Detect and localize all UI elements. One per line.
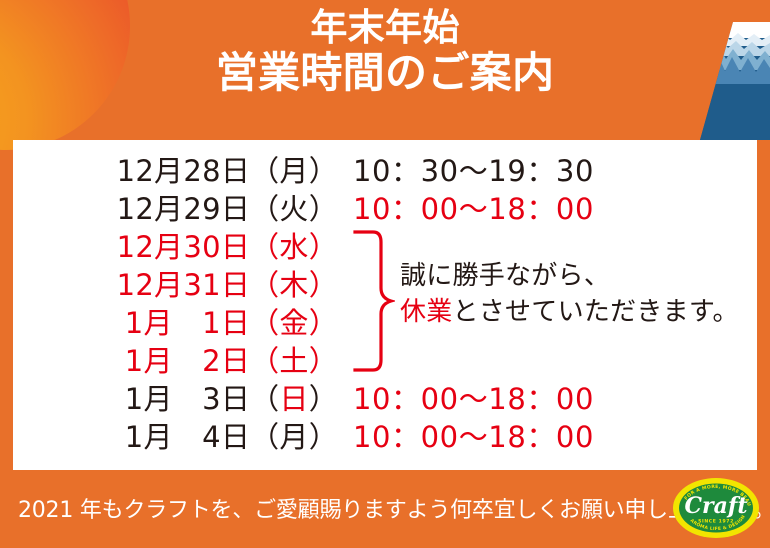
- craft-logo: FOR A MORE, MORE BEAUTIFUL WORLD AROMA L…: [672, 477, 760, 539]
- schedule-date-suffix: ）: [309, 382, 338, 416]
- table-row: 12月28日（月） 10：30〜19：30: [13, 148, 757, 186]
- table-row: 1月 4日（月） 10：00〜18：00: [13, 414, 757, 452]
- schedule-date: 1月 4日（月）: [13, 414, 338, 456]
- poster-title: 年末年始 営業時間のご案内: [0, 8, 770, 95]
- closed-notice-line-2: 休業とさせていただきます。: [400, 294, 739, 330]
- closed-notice: 誠に勝手ながら、 休業とさせていただきます。: [400, 258, 739, 331]
- title-line-1: 年末年始: [0, 8, 770, 48]
- content-panel: 12月28日（月） 10：30〜19：30 12月29日（火） 10：00〜18…: [13, 140, 757, 470]
- schedule-time: 10：00〜18：00: [338, 186, 594, 228]
- closed-notice-rest: とさせていただきます。: [453, 297, 739, 327]
- title-line-2: 営業時間のご案内: [0, 50, 770, 95]
- footer-message: 2021 年もクラフトを、ご愛顧賜りますよう何卒宜しくお願い申し上げます。: [18, 492, 770, 524]
- schedule-time: 10：00〜18：00: [338, 414, 594, 456]
- schedule-date: 1月 2日（土）: [13, 338, 338, 380]
- schedule-date-prefix: 1月 3日（: [95, 382, 279, 416]
- table-row: 1月 3日（日） 10：00〜18：00: [13, 376, 757, 414]
- schedule-date: 1月 1日（金）: [13, 300, 338, 342]
- svg-text:SINCE 1972: SINCE 1972: [698, 519, 734, 525]
- schedule-date: 12月28日（月）: [13, 148, 338, 190]
- schedule-date: 12月31日（木）: [13, 262, 338, 304]
- schedule-date: 12月29日（火）: [13, 186, 338, 228]
- schedule-date-weekday: 日: [279, 382, 308, 416]
- footer-bar: 2021 年もクラフトを、ご愛顧賜りますよう何卒宜しくお願い申し上げます。 FO…: [0, 470, 770, 548]
- closed-notice-line-1: 誠に勝手ながら、: [400, 258, 739, 294]
- table-row: 12月29日（火） 10：00〜18：00: [13, 186, 757, 224]
- closed-highlight: 休業: [400, 297, 453, 327]
- schedule-date: 1月 3日（日）: [13, 376, 338, 418]
- svg-text:Craft: Craft: [685, 493, 748, 519]
- poster-root: 年末年始 営業時間のご案内 12月28日（月） 10：30〜19：30 12月2…: [0, 0, 770, 548]
- curly-brace-icon: [351, 230, 395, 372]
- schedule-time: 10：30〜19：30: [338, 148, 594, 190]
- schedule-time: 10：00〜18：00: [338, 376, 594, 418]
- schedule-date: 12月30日（水）: [13, 224, 338, 266]
